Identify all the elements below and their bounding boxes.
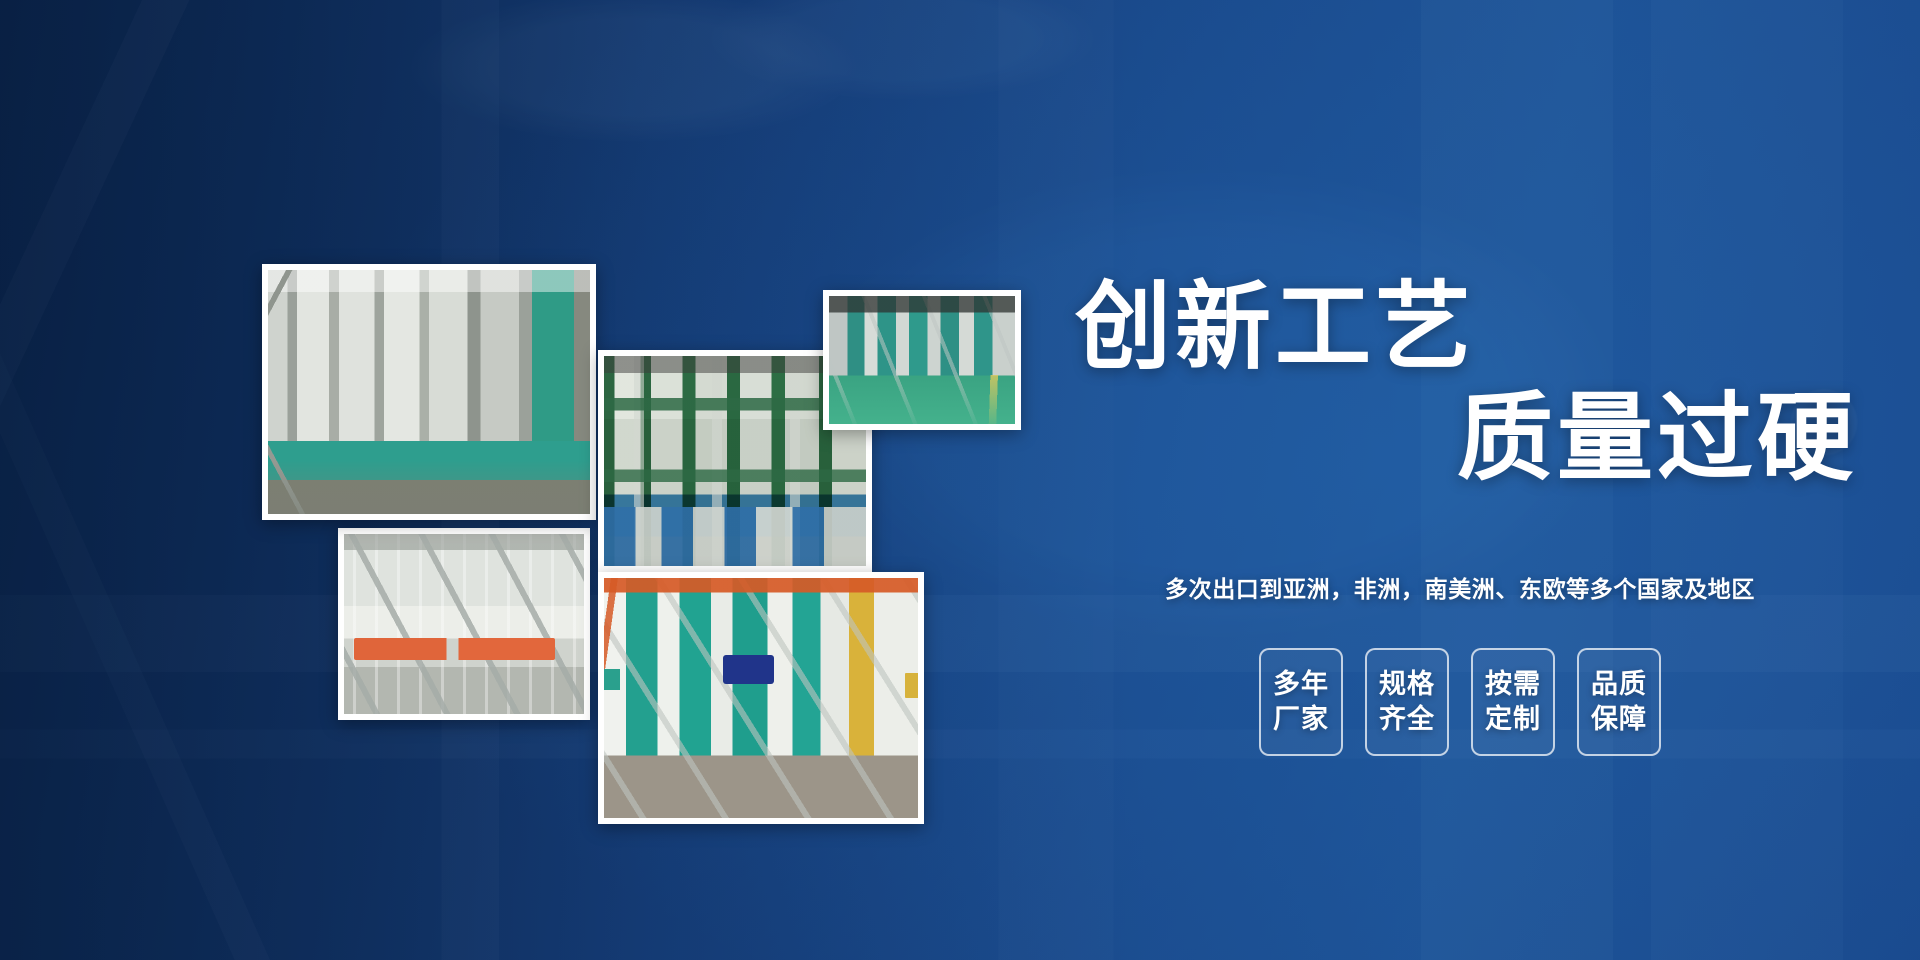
badge-full-specifications: 规格 齐全: [1365, 648, 1449, 756]
promo-banner: 创新工艺 质量过硬 多次出口到亚洲，非洲，南美洲、东欧等多个国家及地区 多年 厂…: [0, 0, 1920, 960]
photo-teal-milling-machines: [598, 572, 924, 824]
headline: 创新工艺 质量过硬: [1075, 272, 1865, 495]
banner-content: 创新工艺 质量过硬 多次出口到亚洲，非洲，南美洲、东欧等多个国家及地区 多年 厂…: [1000, 0, 1920, 960]
badge-quality-guarantee-line-2: 保障: [1591, 703, 1647, 736]
headline-line-1: 创新工艺: [1075, 272, 1865, 383]
headline-line-2: 质量过硬: [1075, 383, 1865, 494]
badge-custom-on-demand-line-2: 定制: [1485, 703, 1541, 736]
badge-quality-guarantee-line-1: 品质: [1591, 668, 1647, 701]
feature-badges: 多年 厂家 规格 齐全 按需 定制 品质 保障: [1000, 648, 1920, 756]
photo-production-line-orange-hoppers: [338, 528, 590, 720]
badge-custom-on-demand: 按需 定制: [1471, 648, 1555, 756]
photo-collage: [0, 0, 1000, 960]
photo-grain-cleaning-line: [262, 264, 596, 520]
photo-teal-mills-green-floor-image: [829, 296, 1015, 424]
badge-years-manufacturer-line-1: 多年: [1273, 668, 1329, 701]
badge-quality-guarantee: 品质 保障: [1577, 648, 1661, 756]
badge-full-specifications-line-2: 齐全: [1379, 703, 1435, 736]
photo-production-line-orange-hoppers-image: [344, 534, 584, 714]
badge-years-manufacturer-line-2: 厂家: [1273, 703, 1329, 736]
badge-full-specifications-line-1: 规格: [1379, 668, 1435, 701]
photo-grain-cleaning-line-image: [268, 270, 590, 514]
badge-years-manufacturer: 多年 厂家: [1259, 648, 1343, 756]
photo-teal-milling-machines-image: [604, 578, 918, 818]
badge-custom-on-demand-line-1: 按需: [1485, 668, 1541, 701]
subtitle: 多次出口到亚洲，非洲，南美洲、东欧等多个国家及地区: [1000, 570, 1920, 604]
photo-teal-mills-green-floor: [823, 290, 1021, 430]
